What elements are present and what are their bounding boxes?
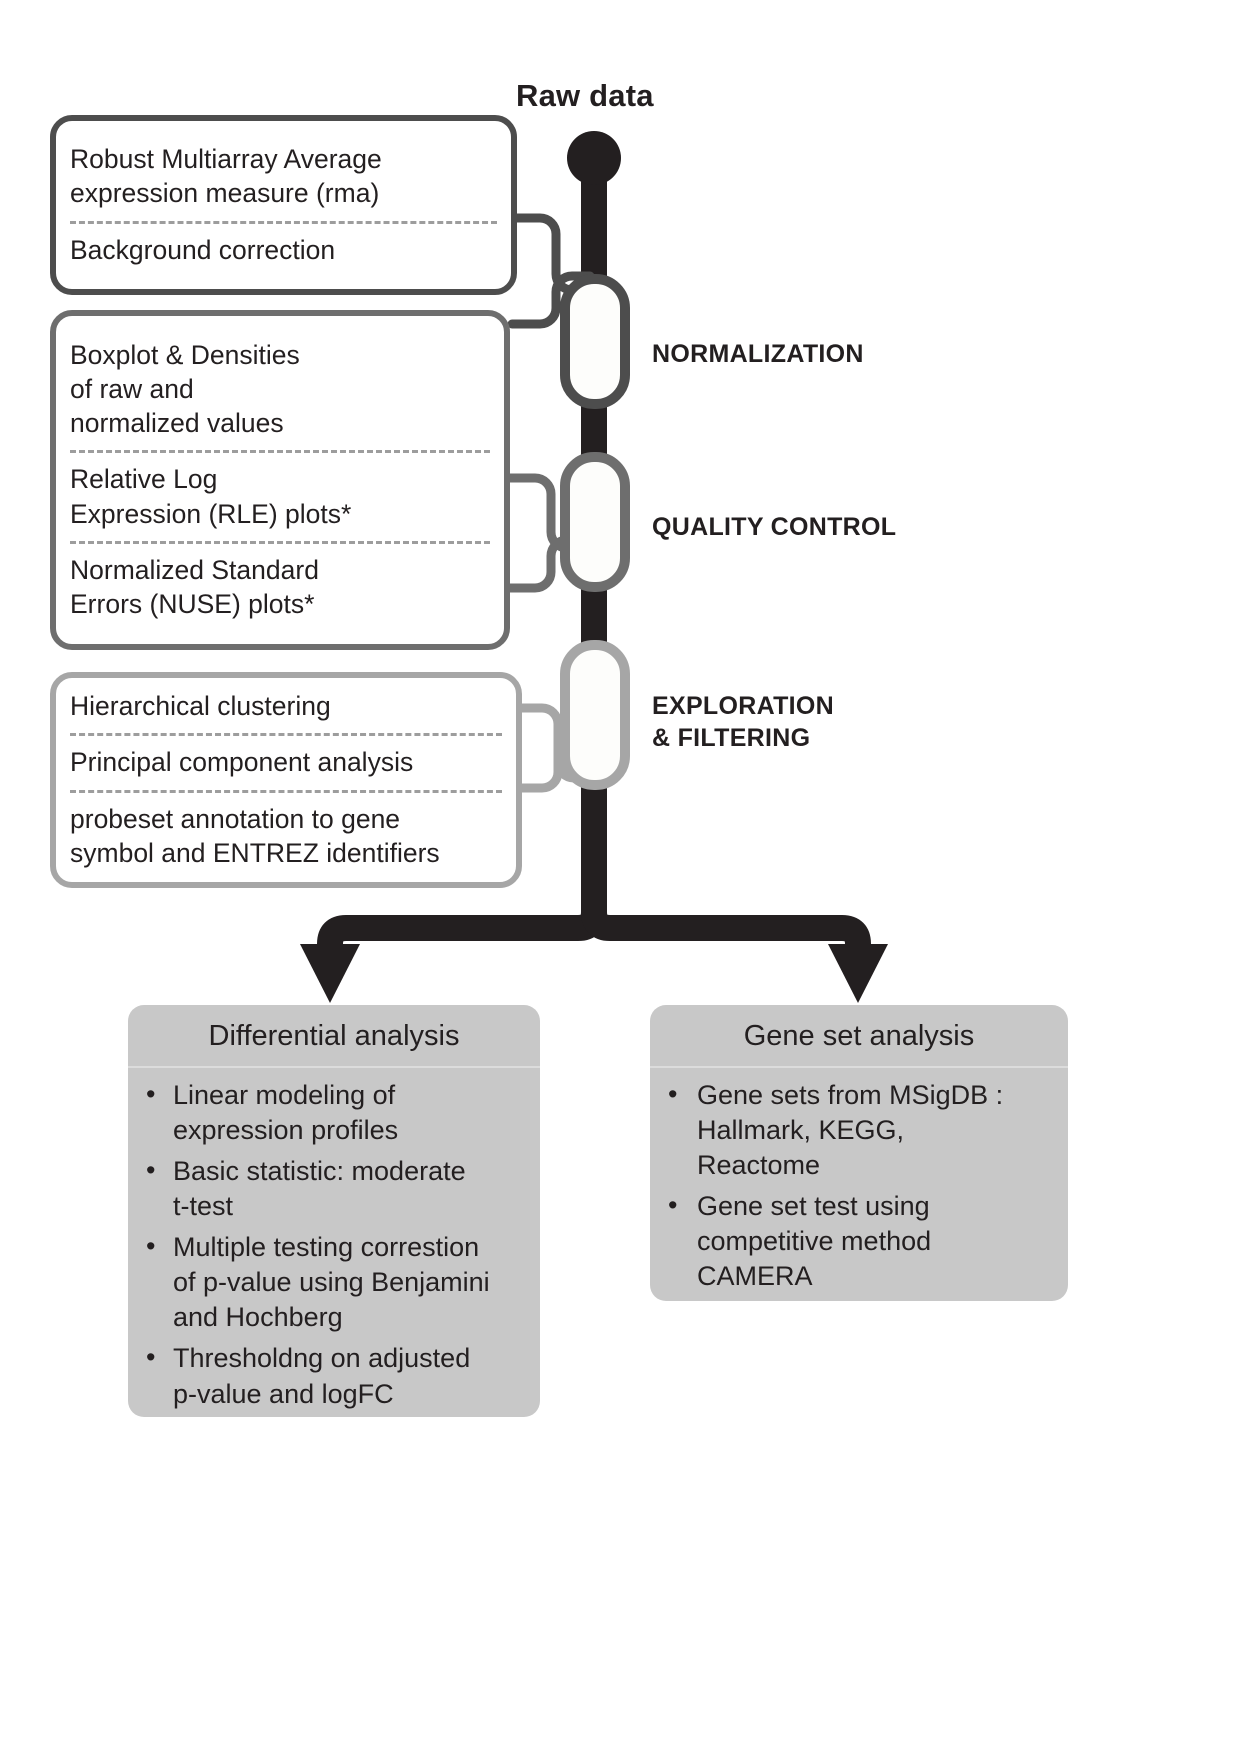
list-item: Basic statistic: moderate t-test bbox=[144, 1154, 524, 1224]
raw-data-node-dot bbox=[567, 131, 621, 185]
stage-node-quality-control bbox=[565, 457, 625, 587]
fork-right-arrowhead bbox=[828, 944, 888, 1003]
fork-left-arrowhead bbox=[300, 944, 360, 1003]
steps-card-quality-control: Boxplot & Densities of raw and normalize… bbox=[50, 310, 510, 650]
step-nuse-plots: Normalized Standard Errors (NUSE) plots* bbox=[70, 541, 490, 631]
output-panel-gene-set-analysis: Gene set analysis Gene sets from MSigDB … bbox=[650, 1005, 1068, 1301]
fork-arrows bbox=[300, 895, 888, 1003]
stage-node-exploration bbox=[565, 645, 625, 785]
connector-normalization bbox=[512, 218, 590, 324]
fork-right-line bbox=[594, 895, 858, 962]
connector-quality-control bbox=[505, 478, 585, 588]
list-item: Gene set test using competitive method C… bbox=[666, 1189, 1052, 1294]
bullet-list-gene-set-analysis: Gene sets from MSigDB : Hallmark, KEGG, … bbox=[666, 1078, 1052, 1295]
list-item: Multiple testing correstion of p-value u… bbox=[144, 1230, 524, 1335]
bullet-list-differential-analysis: Linear modeling of expression profiles B… bbox=[144, 1078, 524, 1412]
panel-body-gene-set-analysis: Gene sets from MSigDB : Hallmark, KEGG, … bbox=[650, 1068, 1068, 1301]
fork-left-line bbox=[330, 895, 594, 962]
spine-trunk bbox=[567, 131, 621, 902]
stage-label-normalization: NORMALIZATION bbox=[652, 338, 864, 370]
stage-node-normalization bbox=[565, 279, 625, 404]
fork-connector bbox=[340, 890, 848, 928]
output-panel-differential-analysis: Differential analysis Linear modeling of… bbox=[128, 1005, 540, 1417]
step-background-correction: Background correction bbox=[70, 221, 497, 277]
connector-exploration bbox=[518, 708, 592, 788]
steps-card-exploration-filtering: Hierarchical clustering Principal compon… bbox=[50, 672, 522, 888]
step-boxplot-densities: Boxplot & Densities of raw and normalize… bbox=[70, 329, 490, 451]
stage-label-quality-control: QUALITY CONTROL bbox=[652, 511, 896, 543]
step-rle-plots: Relative Log Expression (RLE) plots* bbox=[70, 450, 490, 540]
step-principal-component-analysis: Principal component analysis bbox=[70, 733, 502, 789]
raw-data-title: Raw data bbox=[516, 78, 654, 114]
step-rma: Robust Multiarray Average expression mea… bbox=[70, 133, 497, 220]
panel-body-differential-analysis: Linear modeling of expression profiles B… bbox=[128, 1068, 540, 1417]
panel-title-gene-set-analysis: Gene set analysis bbox=[650, 1005, 1068, 1068]
flowchart-canvas: Raw data NORMALIZATION QUALITY CONTROL E… bbox=[0, 0, 1240, 1753]
list-item: Thresholdng on adjusted p-value and logF… bbox=[144, 1341, 524, 1411]
step-hierarchical-clustering: Hierarchical clustering bbox=[70, 680, 502, 733]
list-item: Linear modeling of expression profiles bbox=[144, 1078, 524, 1148]
steps-card-normalization: Robust Multiarray Average expression mea… bbox=[50, 115, 517, 295]
step-probeset-annotation: probeset annotation to gene symbol and E… bbox=[70, 790, 502, 880]
list-item: Gene sets from MSigDB : Hallmark, KEGG, … bbox=[666, 1078, 1052, 1183]
panel-title-differential-analysis: Differential analysis bbox=[128, 1005, 540, 1068]
stage-label-exploration-filtering: EXPLORATION & FILTERING bbox=[652, 690, 834, 754]
